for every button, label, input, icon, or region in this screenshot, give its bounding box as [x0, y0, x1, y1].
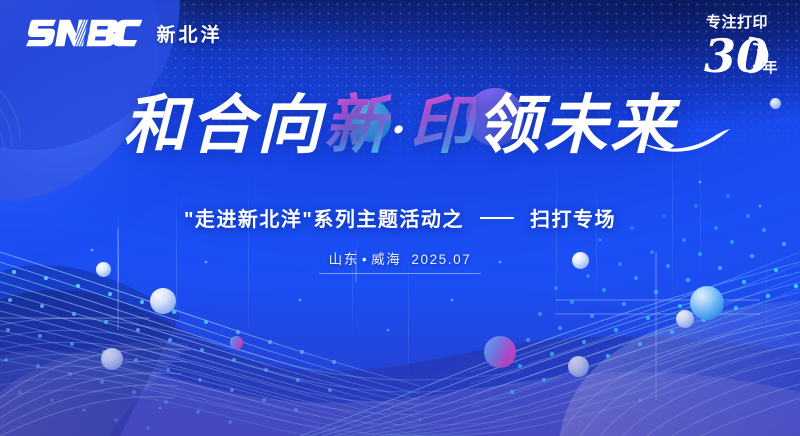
subtitle-trail: 扫打专场 — [530, 209, 616, 231]
subtitle-line: "走进新北洋"系列主题活动之 扫打专场 — [0, 203, 800, 232]
place-separator: • — [362, 252, 368, 267]
place-province: 山东 — [329, 252, 359, 267]
anniversary-unit: 年 — [762, 58, 777, 76]
subtitle-dash-rule — [480, 217, 514, 219]
place-city: 威海 — [371, 252, 401, 267]
brand-logo-cn-text: 新北洋 — [156, 20, 222, 47]
anniversary-number: 30 — [704, 29, 768, 83]
title-part-2-gradient: 新 — [324, 88, 391, 163]
main-title-block: 和合向新·印领未来 — [0, 92, 800, 159]
brand-logo[interactable]: 新北洋 — [26, 18, 222, 48]
place-date-line: 山东•威海2025.07 — [0, 248, 800, 274]
event-date: 2025.07 — [411, 252, 471, 267]
main-title: 和合向新·印领未来 — [123, 92, 677, 159]
subtitle-lead: "走进新北洋"系列主题活动之 — [184, 209, 464, 231]
anniversary-badge-icon: 专注打印 30 年 — [688, 10, 786, 86]
title-brush-swash-icon — [641, 127, 731, 153]
place-date-inner: 山东•威海2025.07 — [319, 248, 482, 274]
title-part-1: 和合向 — [123, 88, 324, 163]
snbc-logo-icon — [26, 18, 142, 48]
anniversary-badge: 专注打印 30 年 — [688, 10, 786, 86]
background-bottom-tint — [0, 286, 800, 436]
event-banner: 新北洋 专注打印 30 年 和合向新·印领未来 — [0, 0, 800, 436]
title-part-3-gradient: 印 — [409, 88, 476, 163]
title-separator: · — [391, 104, 409, 155]
